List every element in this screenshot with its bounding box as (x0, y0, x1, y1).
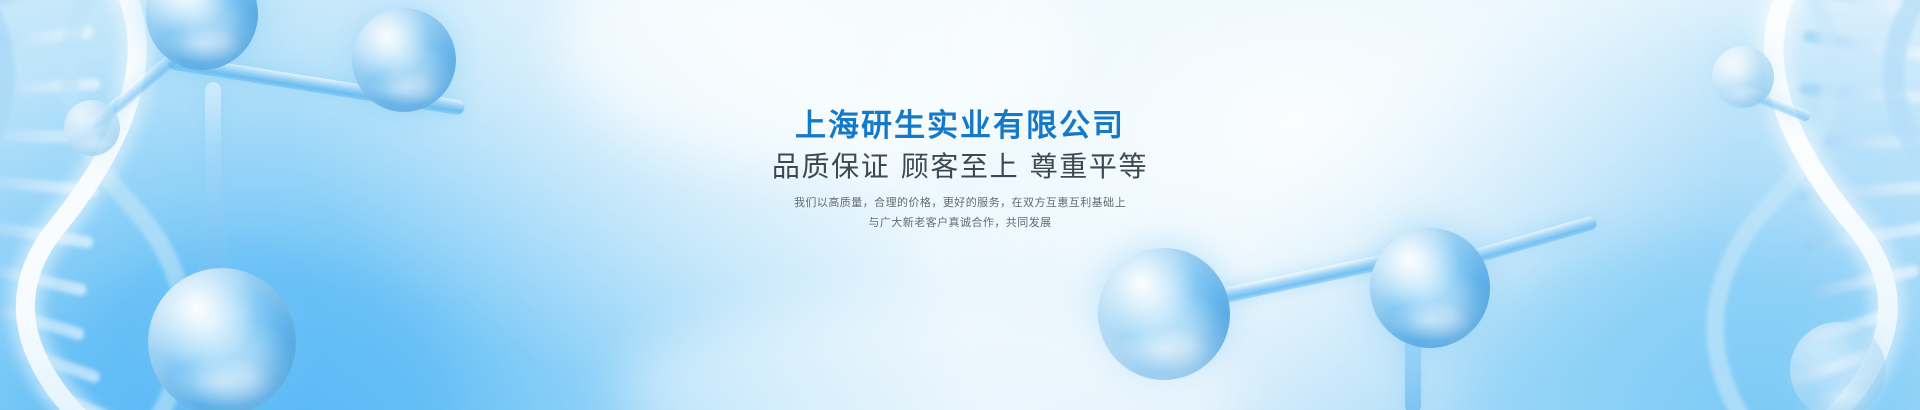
molecule-bond (167, 54, 466, 116)
company-description: 我们以高质量，合理的价格，更好的服务，在双方互惠互利基础上 与广大新老客户真诚合… (0, 193, 1920, 233)
molecule-bond (1405, 264, 1421, 410)
company-hero-banner: 上海研生实业有限公司 品质保证 顾客至上 尊重平等 我们以高质量，合理的价格，更… (0, 0, 1920, 410)
description-line-1: 我们以高质量，合理的价格，更好的服务，在双方互惠互利基础上 (0, 193, 1920, 213)
company-slogan: 品质保证 顾客至上 尊重平等 (0, 149, 1920, 185)
molecule-sphere-icon (1098, 248, 1230, 380)
background-glow-left (40, 250, 460, 410)
description-line-2: 与广大新老客户真诚合作，共同发展 (0, 213, 1920, 233)
molecule-bond (1214, 251, 1403, 305)
background-glow-bottom-right (1460, 240, 1920, 410)
banner-text-block: 上海研生实业有限公司 品质保证 顾客至上 尊重平等 我们以高质量，合理的价格，更… (0, 108, 1920, 233)
company-title: 上海研生实业有限公司 (0, 108, 1920, 145)
molecule-sphere-icon (148, 268, 296, 410)
molecule-sphere-icon (1790, 322, 1886, 410)
background-haze-bottom (620, 300, 1240, 410)
molecule-sphere-icon (1712, 46, 1774, 108)
molecule-sphere-icon (146, 0, 258, 70)
molecule-sphere-icon (352, 8, 456, 112)
molecule-sphere-icon (1370, 228, 1490, 348)
